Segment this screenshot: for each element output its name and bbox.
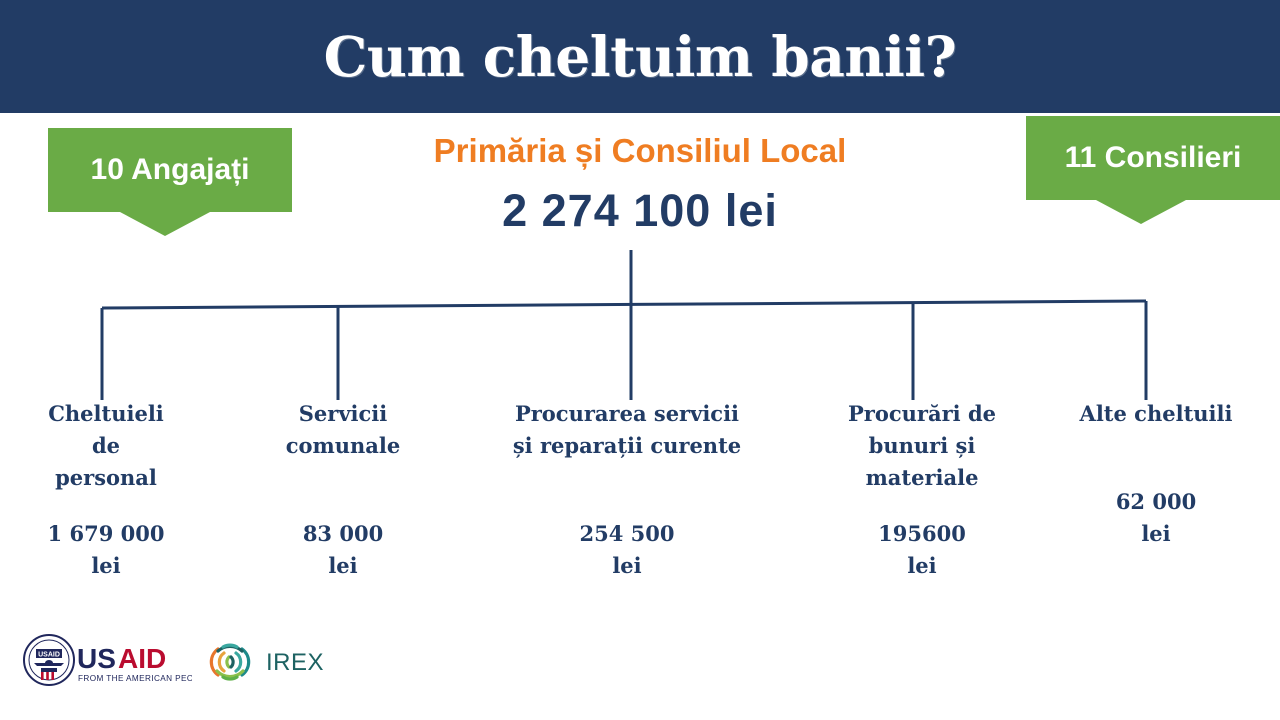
usaid-wordmark-us: US xyxy=(77,643,116,674)
callout-councilors: 11 Consilieri xyxy=(1026,116,1280,200)
expense-column-communal: Servicii comunale 83 000 lei xyxy=(245,398,441,582)
expense-amount: 254 500 lei xyxy=(468,518,786,582)
usaid-wordmark-aid: AID xyxy=(118,643,166,674)
connector-bus xyxy=(102,301,1146,308)
page-title: Cum cheltuim banii? xyxy=(0,0,1280,113)
usaid-logo: USAID US AID FROM THE AMERICAN PEOPLE xyxy=(22,632,192,695)
expense-label: Procurarea servicii și reparații curente xyxy=(468,398,786,462)
expense-label: Cheltuieli de personal xyxy=(8,398,204,494)
expense-amount: 1 679 000 lei xyxy=(8,518,204,582)
callout-councilors-label: 11 Consilieri xyxy=(1065,141,1242,175)
expense-amount: 62 000 lei xyxy=(1058,486,1254,550)
irex-logo-svg: IREX xyxy=(202,637,327,687)
irex-logo: IREX xyxy=(202,637,327,692)
irex-wordmark: IREX xyxy=(266,649,324,676)
callout-employees-label: 10 Angajați xyxy=(91,153,250,187)
expense-column-other: Alte cheltuili 62 000 lei xyxy=(1058,398,1254,550)
organization-total-amount: 2 274 100 lei xyxy=(340,185,940,237)
tree-connector-diagram xyxy=(0,240,1280,410)
expense-column-services-repairs: Procurarea servicii și reparații curente… xyxy=(468,398,786,582)
callout-employees: 10 Angajați xyxy=(48,128,292,212)
irex-mark-icon xyxy=(211,645,248,679)
organization-name: Primăria și Consiliul Local xyxy=(340,132,940,170)
callout-employees-tail xyxy=(120,212,210,236)
expense-label: Alte cheltuili xyxy=(1058,398,1254,430)
expense-columns: Cheltuieli de personal 1 679 000 lei Ser… xyxy=(0,398,1280,588)
expense-column-goods-materials: Procurări de bunuri și materiale 195600 … xyxy=(824,398,1020,582)
usaid-logo-svg: USAID US AID FROM THE AMERICAN PEOPLE xyxy=(22,632,192,690)
usaid-seal-icon: USAID xyxy=(24,635,74,685)
expense-amount: 195600 lei xyxy=(824,518,1020,582)
expense-label: Servicii comunale xyxy=(245,398,441,462)
slide-root: Cum cheltuim banii? 10 Angajați 11 Consi… xyxy=(0,0,1280,720)
expense-amount: 83 000 lei xyxy=(245,518,441,582)
usaid-tagline: FROM THE AMERICAN PEOPLE xyxy=(78,674,192,683)
header-bar: Cum cheltuim banii? xyxy=(0,0,1280,113)
svg-text:USAID: USAID xyxy=(38,651,60,658)
callout-councilors-tail xyxy=(1096,200,1186,224)
expense-column-personal: Cheltuieli de personal 1 679 000 lei xyxy=(8,398,204,582)
expense-label: Procurări de bunuri și materiale xyxy=(824,398,1020,494)
